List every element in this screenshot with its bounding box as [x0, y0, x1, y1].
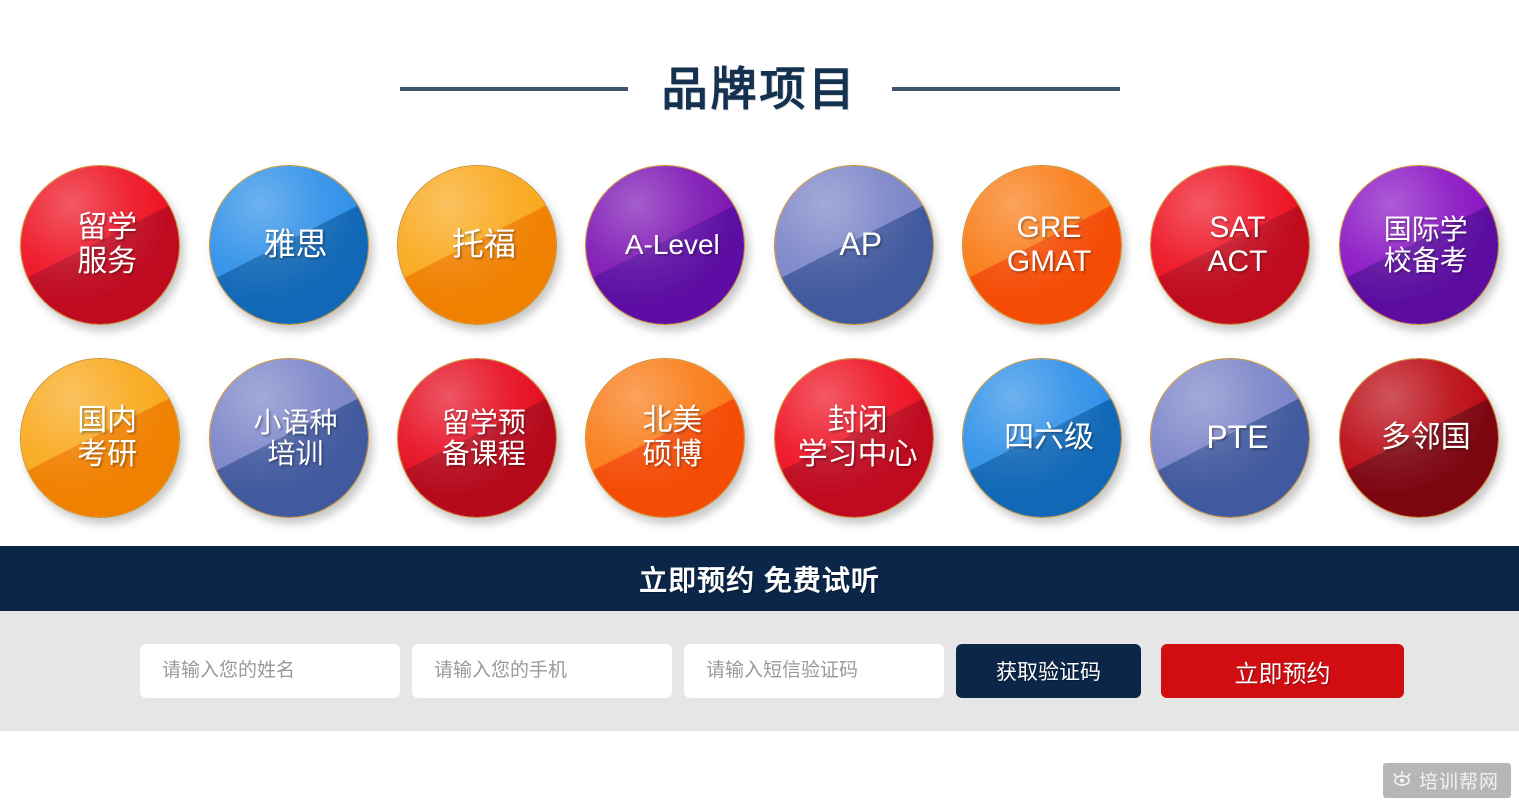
program-bubble[interactable]: SAT ACT: [1145, 160, 1315, 330]
program-bubble-circle[interactable]: 四六级: [962, 358, 1122, 518]
program-bubble-circle[interactable]: 多邻国: [1339, 358, 1499, 518]
program-bubble-circle[interactable]: 国际学 校备考: [1339, 165, 1499, 325]
program-bubble-label: 托福: [438, 227, 516, 263]
program-bubble-label: 雅思: [250, 227, 328, 263]
program-bubble-label: 四六级: [990, 421, 1094, 455]
program-bubble-label: 国内 考研: [63, 404, 137, 471]
program-bubble[interactable]: 封闭 学习中心: [769, 353, 939, 523]
program-bubble-circle[interactable]: SAT ACT: [1150, 165, 1310, 325]
program-bubble-label: 多邻国: [1367, 421, 1471, 455]
program-bubble-label: 留学预 备课程: [428, 407, 526, 470]
program-bubble-circle[interactable]: 雅思: [209, 165, 369, 325]
program-bubble-label: 小语种 培训: [240, 407, 338, 470]
program-bubble-circle[interactable]: AP: [774, 165, 934, 325]
program-bubble-circle[interactable]: 托福: [397, 165, 557, 325]
program-bubble-label: GRE GMAT: [993, 211, 1091, 278]
program-bubble-circle[interactable]: 北美 硕博: [585, 358, 745, 518]
program-bubble-label: SAT ACT: [1193, 211, 1267, 278]
program-bubble-label: 留学 服务: [63, 211, 137, 278]
program-bubble-label: A-Level: [611, 229, 720, 260]
program-bubble-label: 北美 硕博: [628, 404, 702, 471]
site-watermark: 培训帮网: [1383, 763, 1511, 798]
program-bubble-circle[interactable]: GRE GMAT: [962, 165, 1122, 325]
page-title: 品牌项目: [662, 66, 858, 112]
submit-booking-button[interactable]: 立即预约: [1161, 644, 1404, 698]
program-bubble-circle[interactable]: 留学 服务: [20, 165, 180, 325]
page-header: 品牌项目: [0, 0, 1519, 160]
program-bubble[interactable]: 留学预 备课程: [392, 353, 562, 523]
program-bubble-label: PTE: [1192, 420, 1268, 456]
program-bubble-circle[interactable]: A-Level: [585, 165, 745, 325]
program-bubble-label: 封闭 学习中心: [790, 404, 918, 471]
program-bubble[interactable]: 国内 考研: [15, 353, 185, 523]
watermark-text: 培训帮网: [1419, 767, 1499, 794]
program-bubble[interactable]: 小语种 培训: [204, 353, 374, 523]
program-bubble[interactable]: A-Level: [580, 160, 750, 330]
title-rule-left: [400, 87, 628, 91]
booking-form: 获取验证码 立即预约: [0, 611, 1519, 731]
sms-code-input[interactable]: [684, 644, 944, 698]
name-input[interactable]: [140, 644, 400, 698]
program-bubble[interactable]: GRE GMAT: [957, 160, 1127, 330]
title-rule-right: [892, 87, 1120, 91]
program-bubble-label: 国际学 校备考: [1370, 214, 1468, 277]
program-bubble-circle[interactable]: 小语种 培训: [209, 358, 369, 518]
program-bubble-circle[interactable]: 留学预 备课程: [397, 358, 557, 518]
program-bubble[interactable]: 托福: [392, 160, 562, 330]
program-bubble[interactable]: 北美 硕博: [580, 353, 750, 523]
program-bubble-circle[interactable]: 国内 考研: [20, 358, 180, 518]
program-bubble[interactable]: 四六级: [957, 353, 1127, 523]
program-bubble[interactable]: 多邻国: [1334, 353, 1504, 523]
cta-banner: 立即预约 免费试听: [0, 546, 1519, 611]
program-bubble[interactable]: 雅思: [204, 160, 374, 330]
program-bubble-circle[interactable]: 封闭 学习中心: [774, 358, 934, 518]
program-grid: 留学 服务雅思托福A-LevelAPGRE GMATSAT ACT国际学 校备考…: [0, 160, 1519, 546]
program-bubble[interactable]: PTE: [1145, 353, 1315, 523]
program-bubble[interactable]: AP: [769, 160, 939, 330]
get-code-button[interactable]: 获取验证码: [956, 644, 1141, 698]
program-bubble-label: AP: [825, 227, 882, 263]
cta-banner-text: 立即预约 免费试听: [639, 559, 880, 599]
sun-eye-icon: [1392, 769, 1412, 793]
program-bubble[interactable]: 留学 服务: [15, 160, 185, 330]
program-bubble-circle[interactable]: PTE: [1150, 358, 1310, 518]
phone-input[interactable]: [412, 644, 672, 698]
program-bubble[interactable]: 国际学 校备考: [1334, 160, 1504, 330]
